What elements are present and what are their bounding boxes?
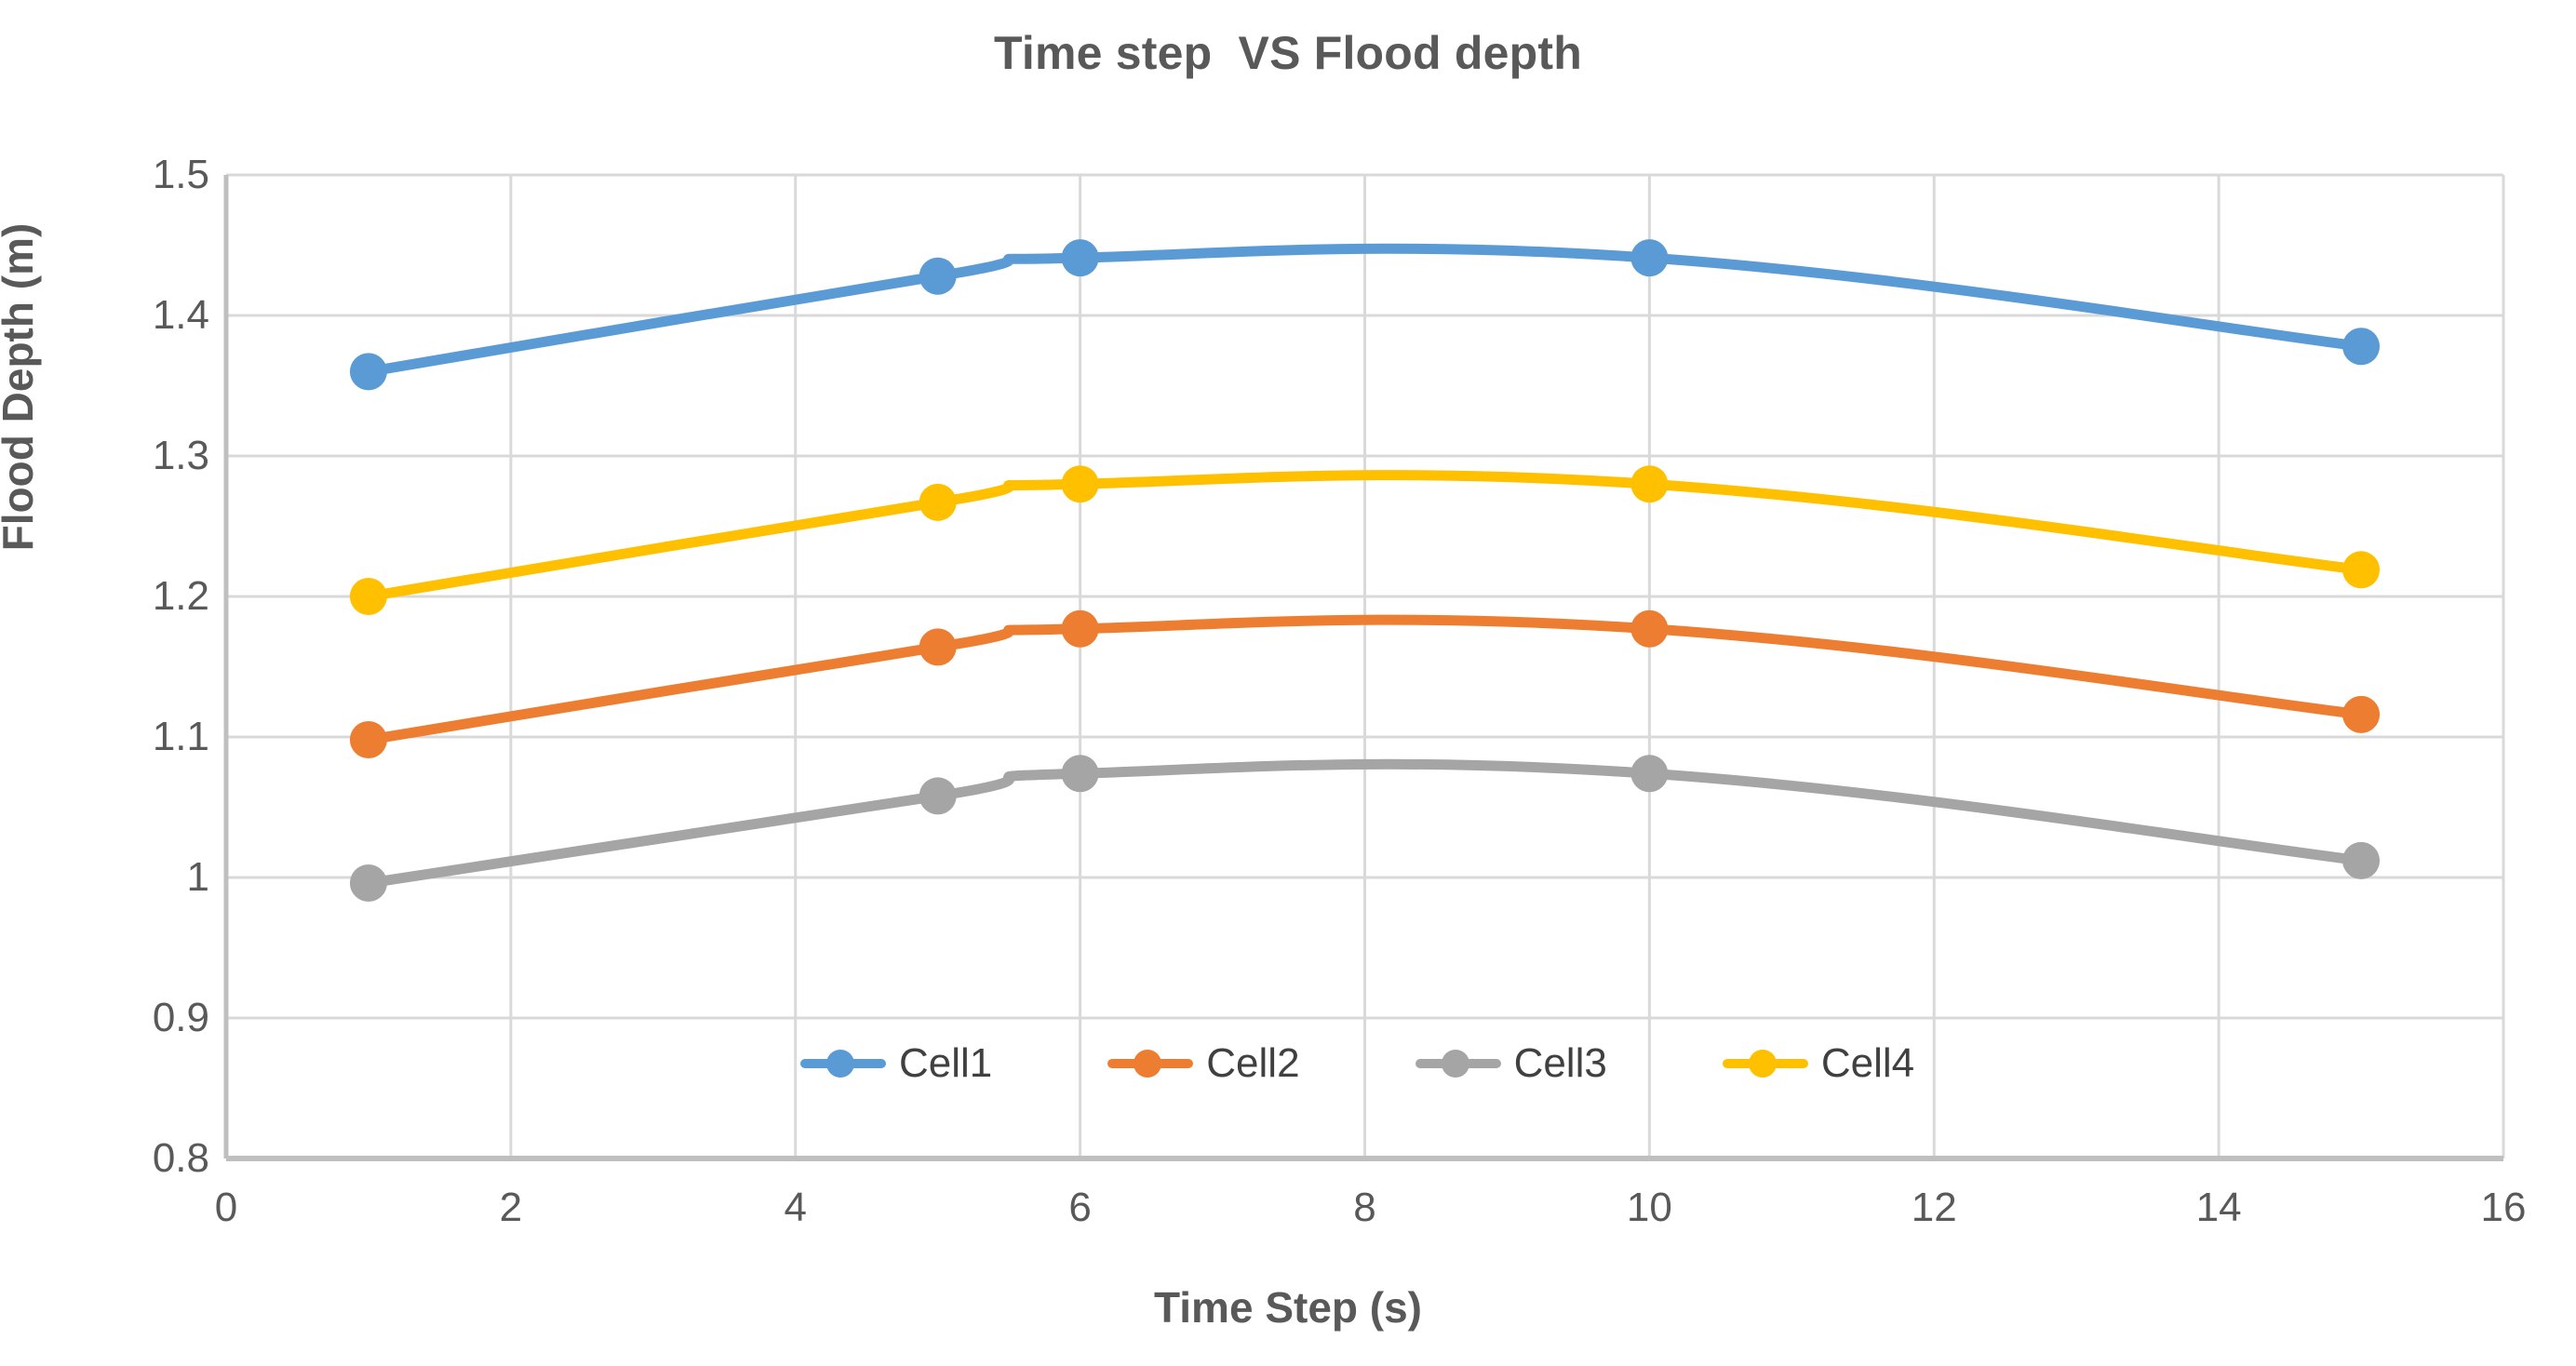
legend-item-cell4[interactable]: Cell4 [1723, 1040, 1914, 1087]
x-axis-tick-label: 2 [455, 1185, 567, 1231]
data-point [919, 777, 957, 814]
x-axis-tick-label: 0 [170, 1185, 282, 1231]
data-point [1062, 755, 1099, 792]
chart-container: Time step VS Flood depth Flood Depth (m)… [0, 0, 2576, 1366]
y-axis-tick-label: 0.8 [0, 1135, 209, 1182]
x-axis-tick-label: 12 [1878, 1185, 1990, 1231]
legend-item-cell3[interactable]: Cell3 [1415, 1040, 1607, 1087]
x-axis-tick-label: 16 [2448, 1185, 2559, 1231]
legend-label: Cell1 [899, 1040, 992, 1087]
data-point [919, 258, 957, 295]
legend-marker-icon [1415, 1043, 1501, 1084]
data-point [350, 578, 387, 615]
y-axis-tick-label: 0.9 [0, 995, 209, 1041]
y-axis-tick-label: 1.2 [0, 573, 209, 620]
data-point [2342, 551, 2380, 588]
x-axis-tick-label: 6 [1025, 1185, 1136, 1231]
y-axis-tick-label: 1.1 [0, 714, 209, 760]
data-point [2342, 842, 2380, 879]
data-point [350, 353, 387, 390]
legend-item-cell1[interactable]: Cell1 [800, 1040, 992, 1087]
data-point [1630, 755, 1668, 792]
legend-item-cell2[interactable]: Cell2 [1107, 1040, 1299, 1087]
data-point [919, 484, 957, 521]
data-point [1630, 610, 1668, 648]
y-axis-tick-label: 1.5 [0, 152, 209, 198]
legend-label: Cell4 [1821, 1040, 1914, 1087]
x-axis-tick-label: 10 [1593, 1185, 1705, 1231]
legend-marker-icon [1107, 1043, 1193, 1084]
data-point [1630, 465, 1668, 502]
x-axis-tick-label: 4 [740, 1185, 852, 1231]
data-point [2342, 696, 2380, 733]
data-point [1630, 239, 1668, 276]
legend-marker-icon [1723, 1043, 1808, 1084]
legend-label: Cell2 [1206, 1040, 1299, 1087]
plot-area [226, 175, 2503, 1158]
x-axis-title: Time Step (s) [0, 1282, 2576, 1333]
plot-svg [226, 175, 2503, 1158]
y-axis-tick-label: 1.3 [0, 433, 209, 479]
x-axis-tick-label: 8 [1309, 1185, 1421, 1231]
chart-title: Time step VS Flood depth [0, 26, 2576, 80]
data-point [1062, 465, 1099, 502]
legend-marker-icon [800, 1043, 886, 1084]
legend-label: Cell3 [1514, 1040, 1607, 1087]
chart-legend: Cell1Cell2Cell3Cell4 [800, 1040, 1914, 1087]
data-point [1062, 610, 1099, 648]
y-axis-tick-label: 1 [0, 854, 209, 901]
data-point [1062, 239, 1099, 276]
data-point [919, 628, 957, 665]
x-axis-tick-label: 14 [2163, 1185, 2274, 1231]
data-point [2342, 328, 2380, 365]
data-point [350, 864, 387, 902]
data-point [350, 721, 387, 758]
y-axis-tick-label: 1.4 [0, 292, 209, 339]
